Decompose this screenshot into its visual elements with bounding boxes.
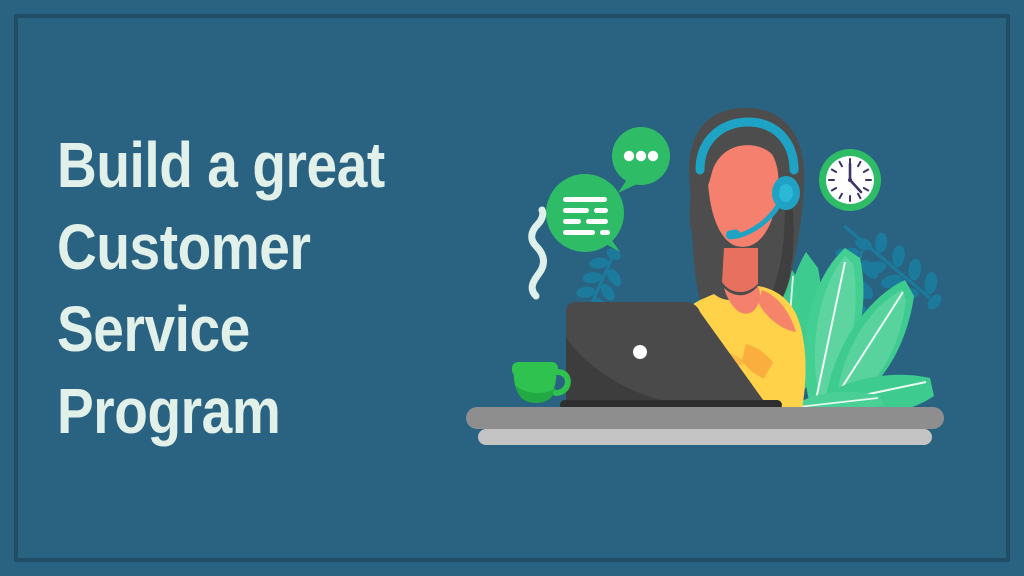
neck <box>722 248 758 292</box>
desk-bottom-bar <box>478 429 932 445</box>
slide-canvas: Build a great Customer Service Program <box>0 0 1024 576</box>
page-title: Build a great Customer Service Program <box>57 124 470 452</box>
chat-bubble-lines-icon <box>546 174 624 252</box>
laptop-logo-dot <box>633 345 647 359</box>
desk <box>466 407 944 445</box>
desk-top-bar <box>466 407 944 429</box>
wall-clock-icon <box>819 149 881 211</box>
